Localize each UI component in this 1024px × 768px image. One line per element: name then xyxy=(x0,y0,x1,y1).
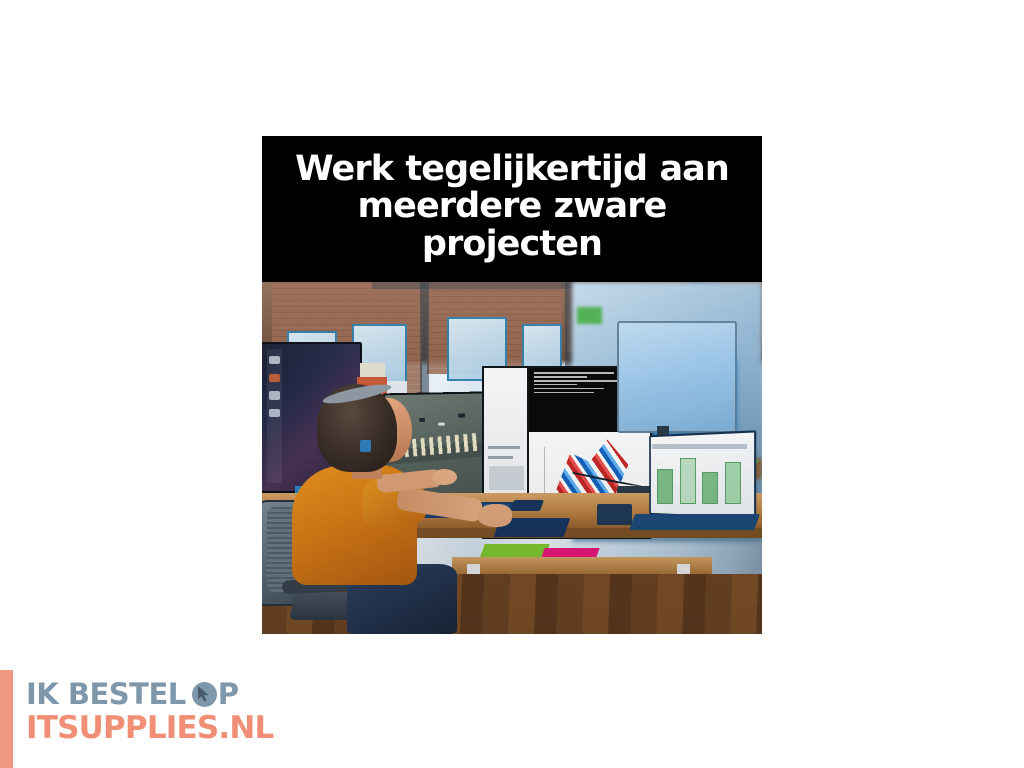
desk-shelf xyxy=(452,557,712,575)
map-vehicle xyxy=(439,422,445,426)
monitor-left-icon xyxy=(269,374,280,382)
brand-wordmark: IK BESTEL P ITSUPPLIES.NL xyxy=(26,670,274,744)
background-accent xyxy=(577,307,602,325)
person-hand xyxy=(477,504,512,527)
brand-line-two: ITSUPPLIES.NL xyxy=(26,713,274,744)
laptop-chart-bar xyxy=(702,472,718,504)
map-vehicle xyxy=(419,418,425,422)
headline-band: Werk tegelijkertijd aan meerdere zware p… xyxy=(262,136,762,282)
monitor-left-icon xyxy=(269,356,280,364)
brand-line-one: IK BESTEL P xyxy=(26,680,274,709)
laptop-toolbar xyxy=(652,444,747,449)
brand-word-p: P xyxy=(218,680,239,709)
smartphone xyxy=(510,500,544,511)
laptop-chart-bar xyxy=(680,458,696,504)
monitor-on-arm xyxy=(617,321,737,434)
headline-text: Werk tegelijkertijd aan meerdere zware p… xyxy=(278,151,746,263)
panel-text-line xyxy=(488,446,520,449)
map-vehicle xyxy=(458,414,464,418)
monitor-left-icon xyxy=(269,409,280,417)
desk-books xyxy=(360,363,385,377)
page-root: Werk tegelijkertijd aan meerdere zware p… xyxy=(0,0,1024,768)
person-hand xyxy=(432,469,457,485)
brand-word-ik: IK xyxy=(26,680,58,709)
promo-card: Werk tegelijkertijd aan meerdere zware p… xyxy=(262,136,762,634)
docking-station xyxy=(597,504,632,525)
person-earring xyxy=(360,440,371,452)
terminal-line xyxy=(534,372,614,374)
monitor-left-icon xyxy=(269,391,280,399)
brand-accent-bar xyxy=(0,670,13,768)
laptop-chart-bar xyxy=(657,469,673,504)
brand-logo[interactable]: IK BESTEL P ITSUPPLIES.NL xyxy=(0,670,274,768)
panel-chart xyxy=(489,466,524,490)
terminal-line xyxy=(534,376,587,378)
brand-word-bestel: BESTEL xyxy=(68,680,186,709)
cursor-pointer-icon xyxy=(192,682,217,707)
laptop-chart-bar xyxy=(725,462,741,504)
panel-text-line xyxy=(488,456,513,459)
terminal-line xyxy=(534,384,578,386)
terminal-line xyxy=(534,380,624,382)
terminal-line xyxy=(534,388,604,390)
promo-photo xyxy=(262,282,762,634)
terminal-line xyxy=(534,392,595,394)
laptop-keyboard-base xyxy=(629,514,760,530)
